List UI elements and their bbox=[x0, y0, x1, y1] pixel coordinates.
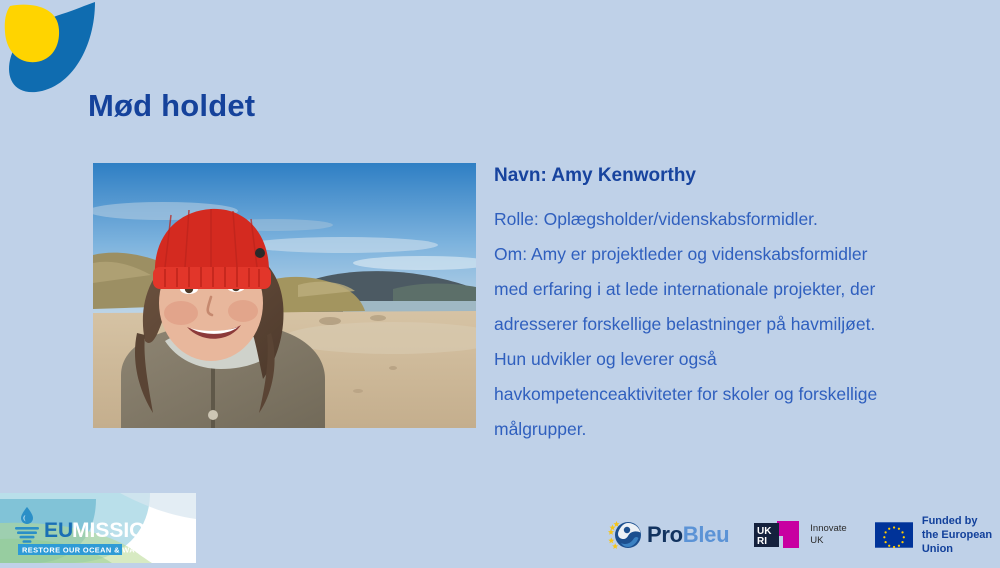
svg-text:EU: EU bbox=[44, 519, 73, 542]
bio-line-about-2: med erfaring i at lede internationale pr… bbox=[494, 272, 946, 307]
bio-line-about-1: Om: Amy er projektleder og videnskabsfor… bbox=[494, 237, 946, 272]
probleu-text-bleu: Bleu bbox=[683, 522, 729, 547]
bio-line-about-5: havkompetenceaktiviteter for skoler og f… bbox=[494, 377, 946, 412]
svg-text:MISSIONS: MISSIONS bbox=[72, 519, 175, 542]
page-title: Mød holdet bbox=[88, 88, 255, 124]
person-name: Navn: Amy Kenworthy bbox=[494, 166, 946, 185]
footer-logo-strip: ProBleu UK RI Innovate UK bbox=[608, 513, 1000, 557]
eu-missions-banner-graphic: EU MISSIONS RESTORE OUR OCEAN & WATERS bbox=[0, 493, 196, 563]
portrait-photo bbox=[93, 163, 476, 428]
probleu-logo: ProBleu bbox=[608, 518, 729, 552]
bio-line-about-6: målgrupper. bbox=[494, 412, 946, 447]
eu-funding-wordmark: Funded by the European Union bbox=[922, 514, 1000, 556]
bio-line-about-4: Hun udvikler og leverer også bbox=[494, 342, 946, 377]
eu-flag-icon bbox=[875, 518, 913, 552]
bio-line-role: Rolle: Oplægsholder/videnskabsformidler. bbox=[494, 202, 946, 237]
ukri-innovate-uk-icon: UK RI bbox=[753, 518, 803, 552]
ukri-innovate-uk-logo: UK RI Innovate UK bbox=[753, 518, 846, 552]
svg-text:RESTORE OUR OCEAN & WATERS: RESTORE OUR OCEAN & WATERS bbox=[22, 546, 156, 555]
eu-funding-line1: Funded by bbox=[922, 514, 1000, 528]
innovate-uk-line1: Innovate bbox=[810, 523, 846, 535]
eu-missions-logo: EU MISSIONS RESTORE OUR OCEAN & WATERS bbox=[0, 493, 196, 563]
innovate-uk-line2: UK bbox=[810, 535, 846, 547]
probleu-swirl-icon bbox=[608, 518, 642, 552]
eu-funding-line2: the European Union bbox=[922, 528, 1000, 556]
portrait-photo-illustration bbox=[93, 163, 476, 428]
bio-text-block: Navn: Amy Kenworthy Rolle: Oplægsholder/… bbox=[494, 166, 946, 447]
innovate-uk-wordmark: Innovate UK bbox=[810, 523, 846, 547]
bio-line-about-3: adresserer forskellige belastninger på h… bbox=[494, 307, 946, 342]
probleu-text-pro: Pro bbox=[647, 522, 683, 547]
probleu-wordmark: ProBleu bbox=[647, 522, 729, 548]
svg-text:RI: RI bbox=[757, 536, 767, 547]
eu-funding-logo: Funded by the European Union bbox=[875, 514, 1000, 556]
